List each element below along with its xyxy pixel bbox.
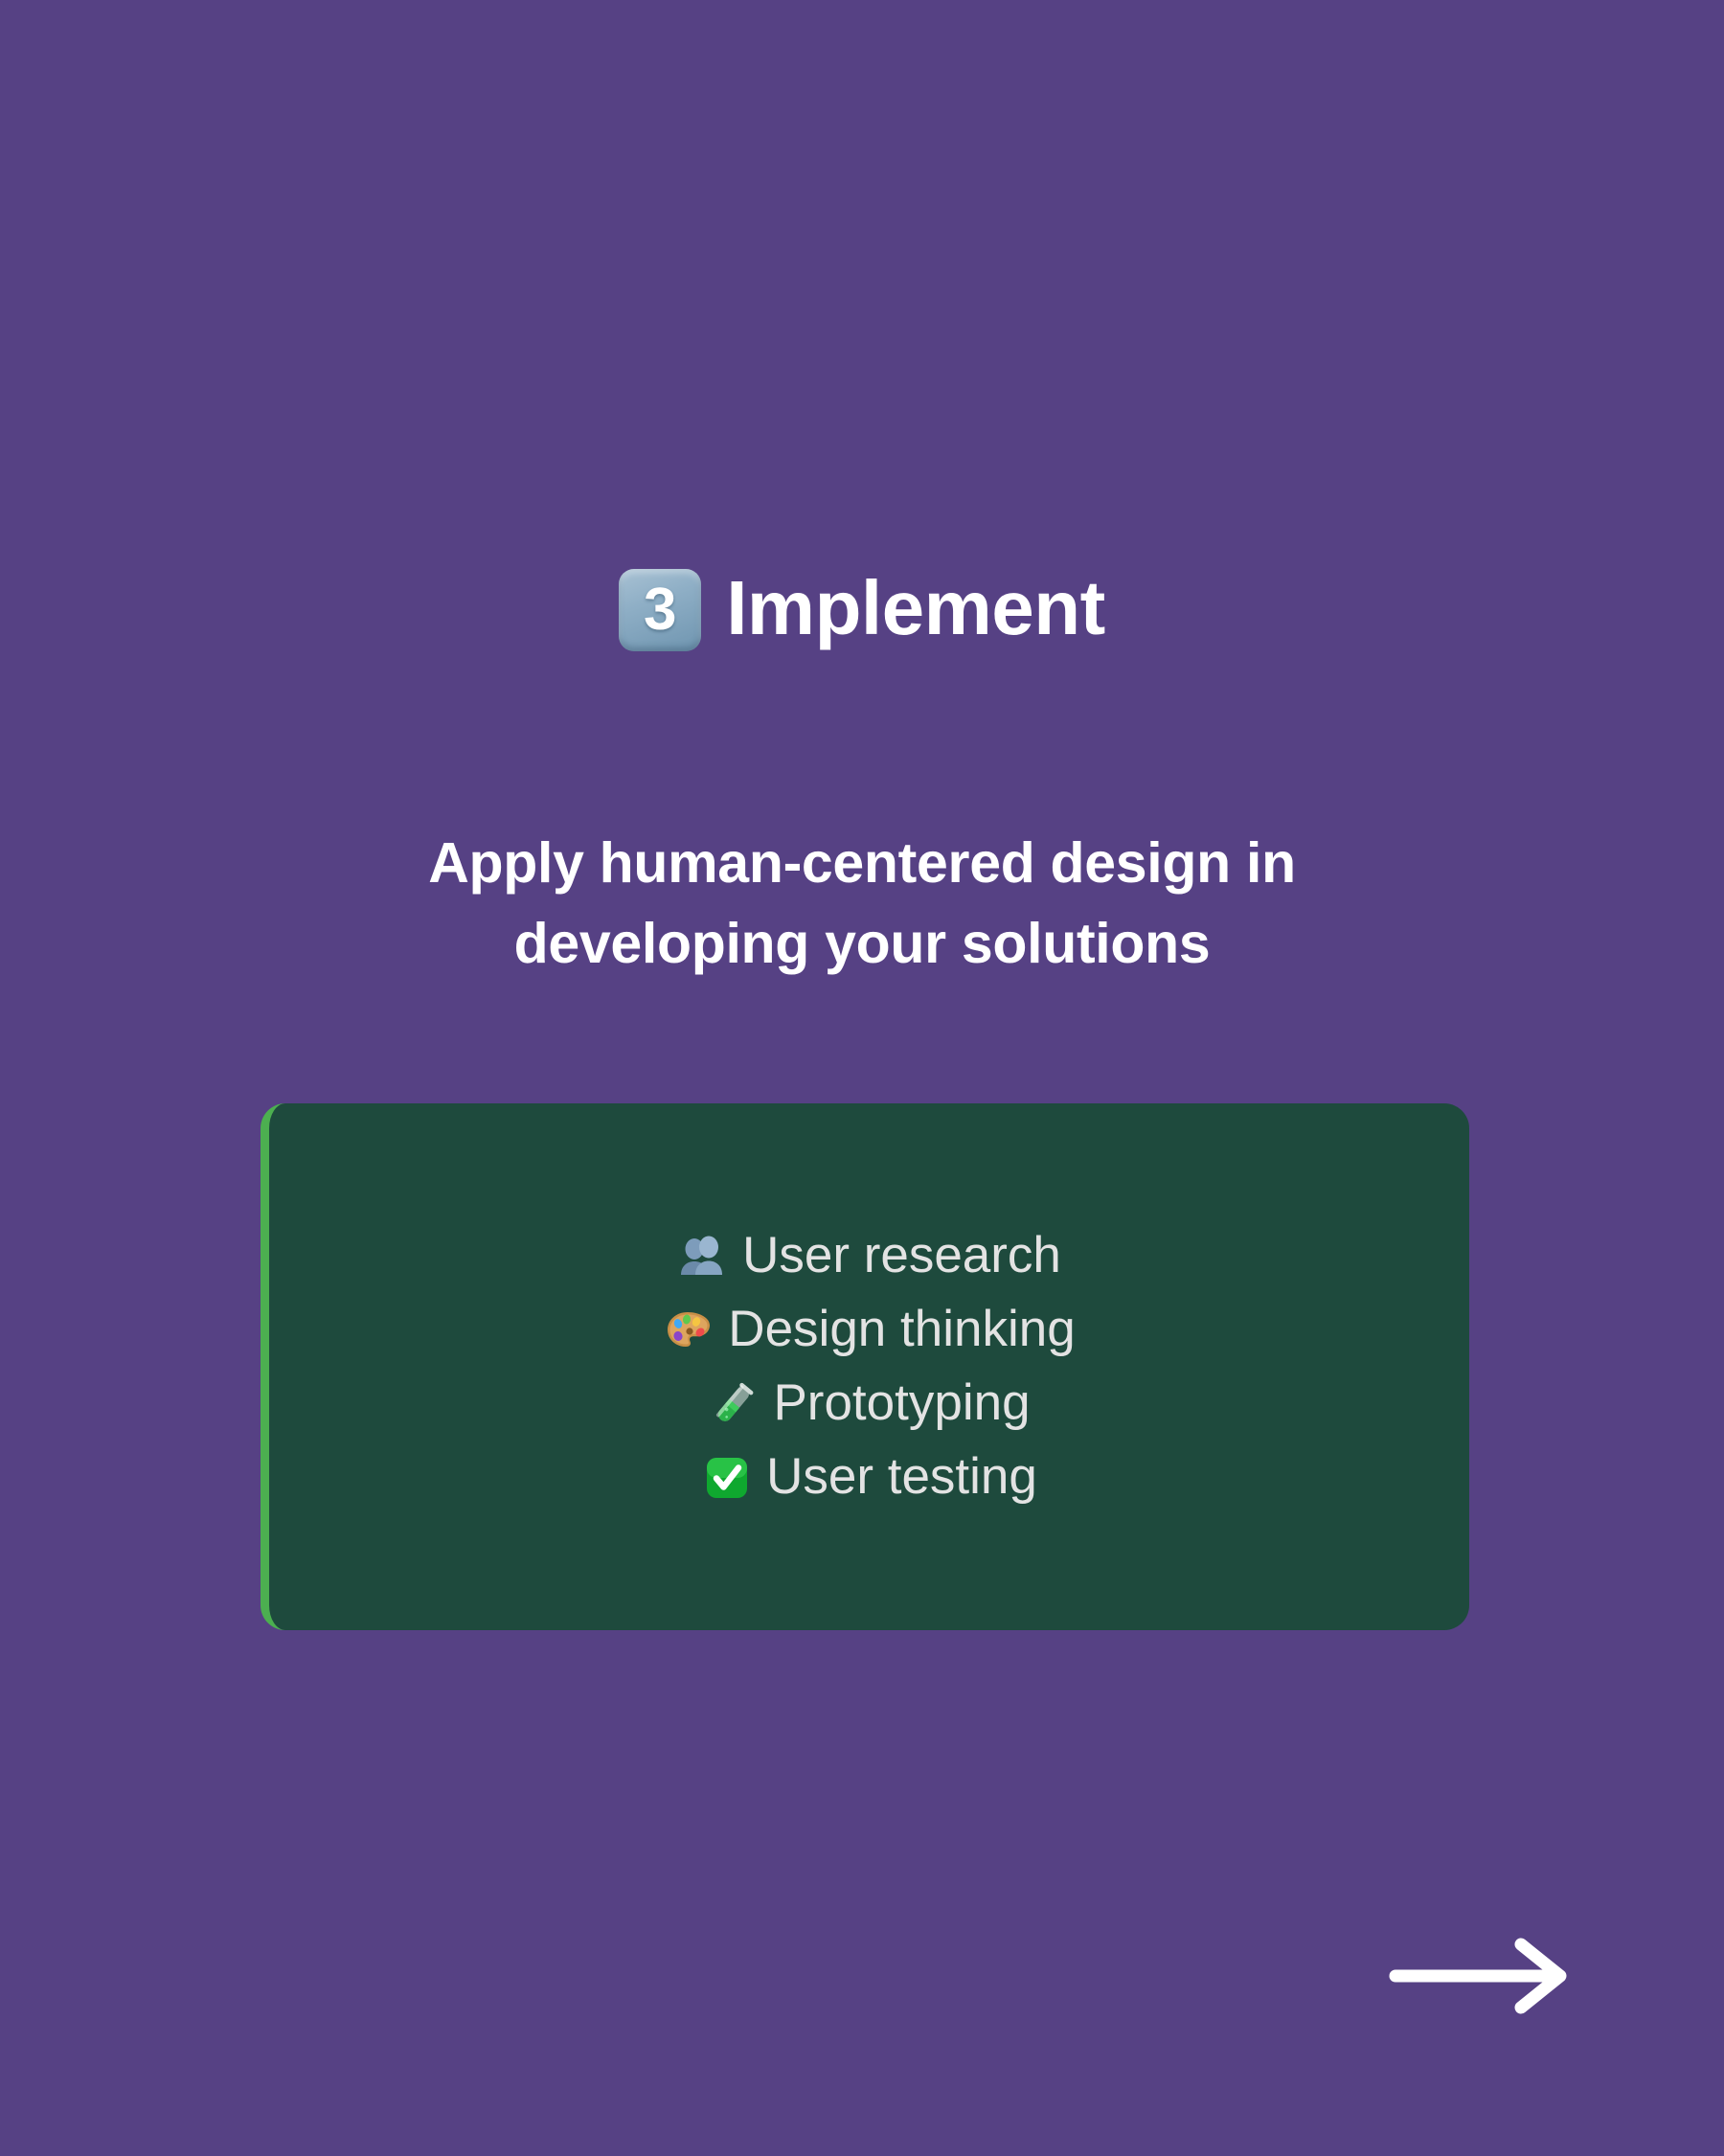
white-check-mark-icon xyxy=(701,1452,753,1504)
page-title: 3 Implement xyxy=(0,567,1724,649)
next-slide-button[interactable] xyxy=(1382,1933,1579,2019)
list-item-label: User testing xyxy=(766,1441,1037,1514)
page-subtitle: Apply human-centered design in developin… xyxy=(239,824,1485,985)
slide-canvas: 3 Implement Apply human-centered design … xyxy=(0,0,1724,2156)
keycap-three-icon: 3 xyxy=(619,569,701,651)
keycap-number: 3 xyxy=(644,580,676,640)
busts-in-silhouette-icon xyxy=(677,1232,729,1283)
list-item-label: Prototyping xyxy=(773,1367,1030,1441)
artist-palette-icon xyxy=(663,1305,715,1357)
page-title-text: Implement xyxy=(726,570,1105,647)
activity-list: User research Design thinking xyxy=(663,1219,1075,1513)
page-subtitle-line-1: Apply human-centered design in xyxy=(239,824,1485,904)
test-tube-icon xyxy=(708,1378,760,1430)
list-item-label: Design thinking xyxy=(728,1293,1075,1367)
list-item: User testing xyxy=(701,1441,1037,1514)
list-item: User research xyxy=(677,1219,1061,1293)
list-item: Design thinking xyxy=(663,1293,1075,1367)
list-item-label: User research xyxy=(742,1219,1061,1293)
arrow-right-icon xyxy=(1382,1933,1579,2019)
list-item: Prototyping xyxy=(708,1367,1030,1441)
highlight-card: User research Design thinking xyxy=(261,1103,1469,1630)
page-subtitle-line-2: developing your solutions xyxy=(239,904,1485,985)
